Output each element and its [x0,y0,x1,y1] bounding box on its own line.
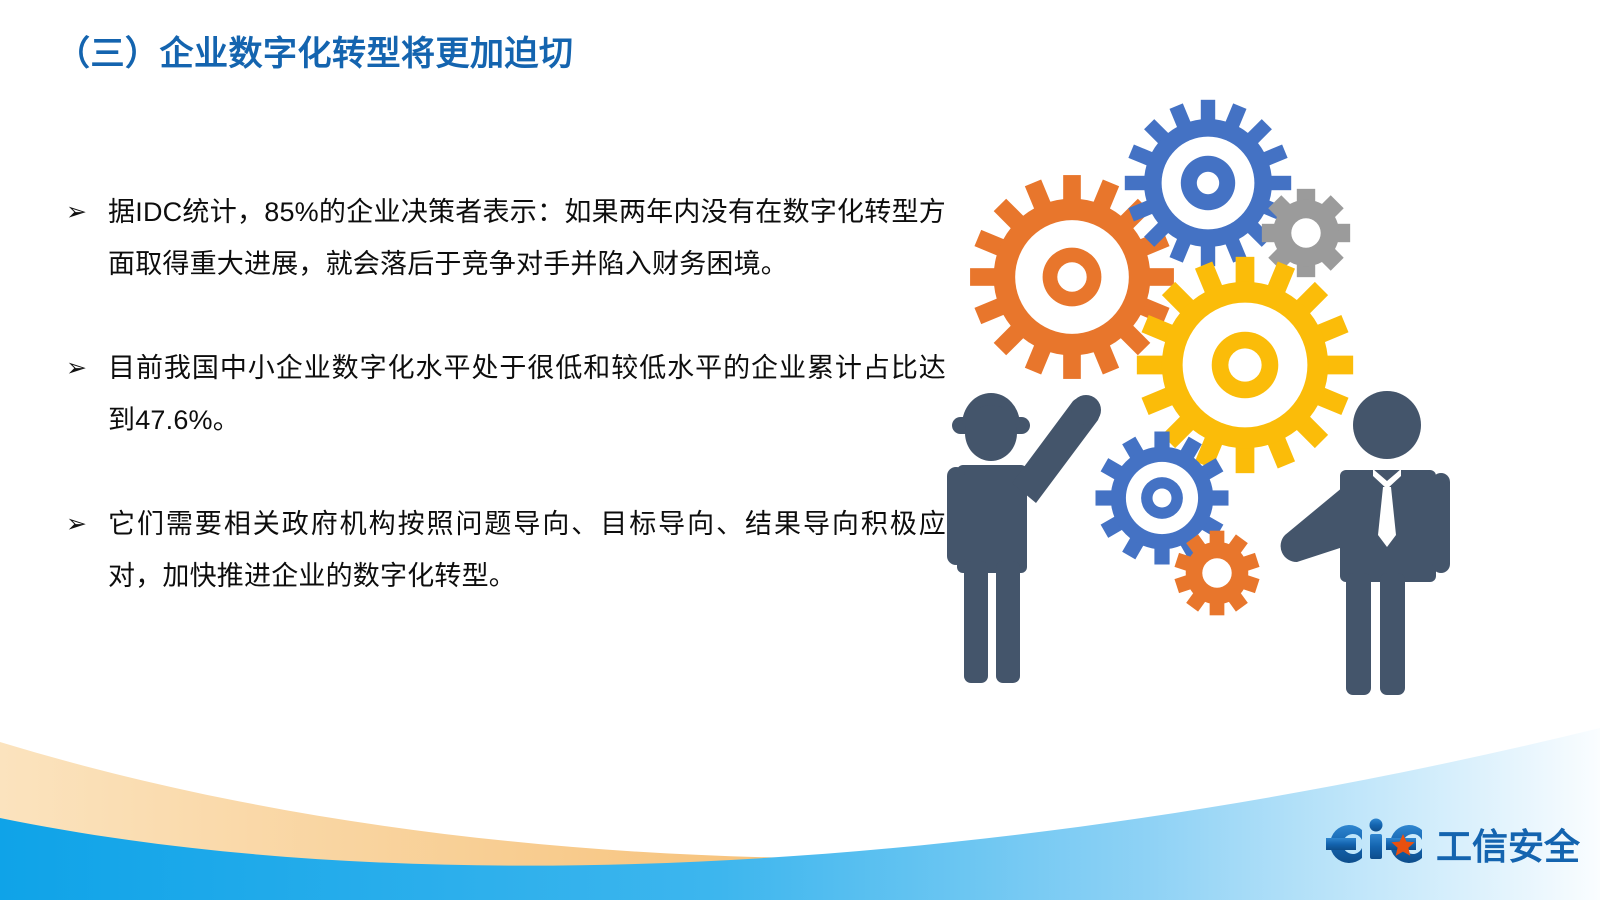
logo-wordmark: 工信安全 [1436,826,1580,868]
arrow-bullet-icon: ➢ [66,342,108,394]
bullet-list: ➢ 据IDC统计，85%的企业决策者表示：如果两年内没有在数字化转型方面取得重大… [66,186,946,602]
arrow-bullet-icon: ➢ [66,186,108,238]
gear-orange-small-icon [1174,531,1259,616]
logo-letter-c-left [1326,825,1362,863]
list-item: ➢ 目前我国中小企业数字化水平处于很低和较低水平的企业累计占比达到47.6%。 [66,342,946,446]
list-item: ➢ 它们需要相关政府机构按照问题导向、目标导向、结果导向积极应对，加快推进企业的… [66,498,946,602]
brand-logo: 工信安全 [1318,812,1580,874]
slide-canvas: （三）企业数字化转型将更加迫切 ➢ 据IDC统计，85%的企业决策者表示：如果两… [0,0,1600,900]
list-item-text: 它们需要相关政府机构按照问题导向、目标导向、结果导向积极应对，加快推进企业的数字… [108,498,946,602]
list-item: ➢ 据IDC统计，85%的企业决策者表示：如果两年内没有在数字化转型方面取得重大… [66,186,946,290]
arrow-bullet-icon: ➢ [66,498,108,550]
gear-gray-small-icon [1262,189,1350,277]
logo-letter-i [1370,819,1383,860]
worker-with-helmet-figure [947,393,1101,683]
list-item-text: 目前我国中小企业数字化水平处于很低和较低水平的企业累计占比达到47.6%。 [108,342,946,446]
gears-and-people-illustration [940,95,1500,705]
list-item-text: 据IDC统计，85%的企业决策者表示：如果两年内没有在数字化转型方面取得重大进展… [108,186,946,290]
page-title: （三）企业数字化转型将更加迫切 [56,34,574,75]
